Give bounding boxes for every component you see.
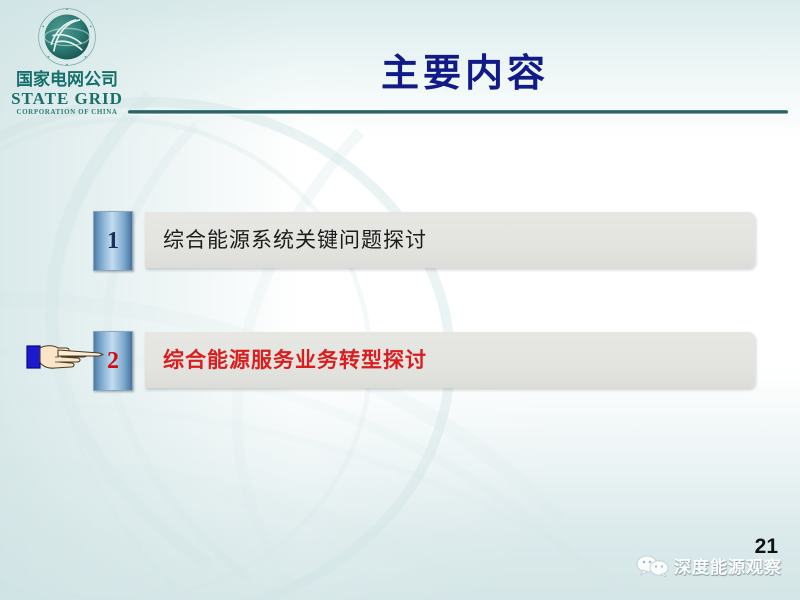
logo-company-name-cn: 国家电网公司 (6, 71, 128, 90)
state-grid-globe-logo-icon (34, 4, 100, 70)
logo-company-name-en: STATE GRID (6, 90, 128, 108)
agenda-label-2: 综合能源服务业务转型探讨 (145, 347, 427, 373)
logo-company-subtitle: CORPORATION OF CHINA (6, 108, 128, 117)
agenda-bar-1[interactable]: 综合能源系统关键问题探讨 (145, 212, 755, 268)
presentation-slide: 国家电网公司 STATE GRID CORPORATION OF CHINA 主… (0, 0, 800, 600)
state-grid-logo: 国家电网公司 STATE GRID CORPORATION OF CHINA (6, 4, 128, 122)
agenda-number-badge-1: 1 (93, 211, 133, 271)
title-divider (128, 110, 788, 114)
agenda-bar-2[interactable]: 综合能源服务业务转型探讨 (145, 332, 755, 388)
watermark: 深度能源观察 (636, 553, 782, 578)
watermark-text: 深度能源观察 (674, 553, 782, 578)
page-title: 主要内容 (145, 50, 785, 96)
agenda-label-1: 综合能源系统关键问题探讨 (145, 227, 427, 253)
wechat-icon (636, 555, 670, 577)
pointing-hand-icon (25, 338, 105, 378)
